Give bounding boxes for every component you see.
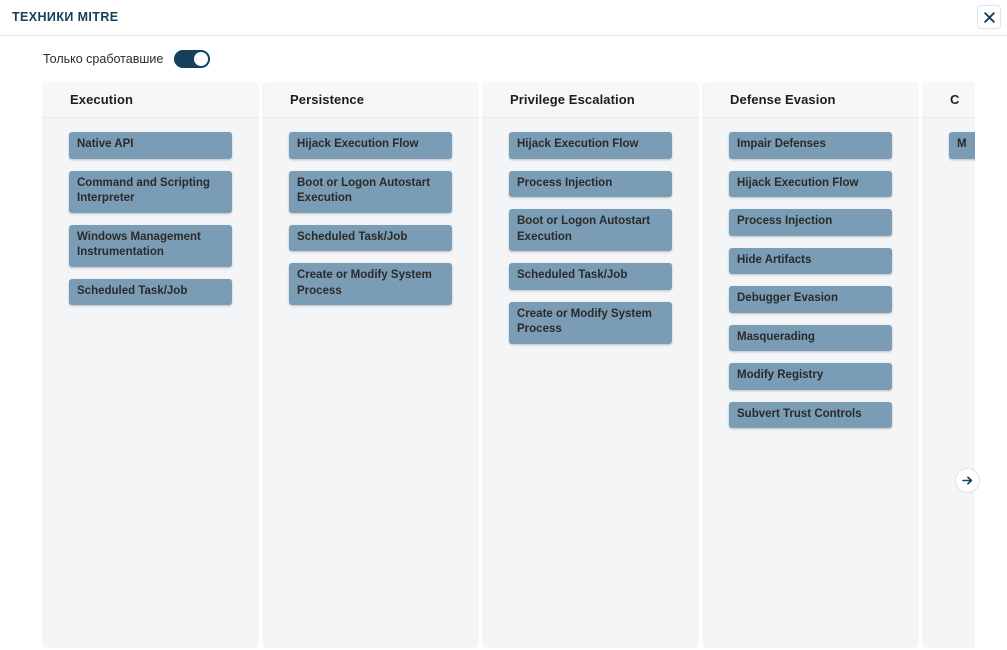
triggered-only-filter[interactable]: Только сработавшие (43, 50, 210, 68)
filter-toolbar: Только сработавшие (0, 36, 1007, 82)
technique-card[interactable]: Impair Defenses (729, 132, 892, 159)
technique-card[interactable]: Scheduled Task/Job (69, 279, 232, 306)
tactic-column-body: Hijack Execution FlowProcess InjectionBo… (482, 118, 699, 648)
technique-card[interactable]: Debugger Evasion (729, 286, 892, 313)
technique-card[interactable]: Windows Management Instrumentation (69, 225, 232, 267)
technique-card[interactable]: Subvert Trust Controls (729, 402, 892, 429)
technique-card[interactable]: Modify Registry (729, 363, 892, 390)
tactic-column-title: Defense Evasion (730, 92, 836, 107)
close-icon (984, 12, 995, 23)
page-title: ТЕХНИКИ MITRE (12, 10, 119, 24)
triggered-only-label: Только сработавшие (43, 52, 163, 66)
technique-card[interactable]: Scheduled Task/Job (509, 263, 672, 290)
arrow-right-icon (961, 474, 974, 487)
technique-card[interactable]: Hijack Execution Flow (289, 132, 452, 159)
tactic-column-body: Impair DefensesHijack Execution FlowProc… (702, 118, 919, 648)
close-button[interactable] (977, 5, 1001, 29)
technique-card[interactable]: Process Injection (509, 171, 672, 198)
technique-card[interactable]: Process Injection (729, 209, 892, 236)
tactic-column-header: Privilege Escalation (482, 82, 699, 118)
triggered-only-toggle[interactable] (174, 50, 210, 68)
tactic-column-header: Defense Evasion (702, 82, 919, 118)
scroll-next-button[interactable] (955, 468, 980, 493)
technique-card[interactable]: Masquerading (729, 325, 892, 352)
technique-card[interactable]: Create or Modify System Process (509, 302, 672, 344)
technique-card[interactable]: Native API (69, 132, 232, 159)
tactic-column-body: Native APICommand and Scripting Interpre… (42, 118, 259, 648)
tactic-column-title: Persistence (290, 92, 364, 107)
tactic-column: Privilege EscalationHijack Execution Flo… (482, 82, 699, 648)
tactic-column-body: Hijack Execution FlowBoot or Logon Autos… (262, 118, 479, 648)
technique-card[interactable]: Hijack Execution Flow (729, 171, 892, 198)
tactic-column-title: Privilege Escalation (510, 92, 635, 107)
technique-card[interactable]: Hijack Execution Flow (509, 132, 672, 159)
techniques-board: ExecutionNative APICommand and Scripting… (42, 82, 1007, 648)
tactic-column-header: Execution (42, 82, 259, 118)
dialog-header: ТЕХНИКИ MITRE (0, 0, 1007, 36)
board-clip-mask (975, 82, 1007, 650)
technique-card[interactable]: Boot or Logon Autostart Execution (289, 171, 452, 213)
technique-card[interactable]: Scheduled Task/Job (289, 225, 452, 252)
tactic-column: PersistenceHijack Execution FlowBoot or … (262, 82, 479, 648)
tactic-column: Defense EvasionImpair DefensesHijack Exe… (702, 82, 919, 648)
tactic-column-title: C (950, 92, 960, 107)
technique-card[interactable]: Command and Scripting Interpreter (69, 171, 232, 213)
technique-card[interactable]: Create or Modify System Process (289, 263, 452, 305)
technique-card[interactable]: Hide Artifacts (729, 248, 892, 275)
tactic-column-header: Persistence (262, 82, 479, 118)
tactic-column: ExecutionNative APICommand and Scripting… (42, 82, 259, 648)
technique-card[interactable]: Boot or Logon Autostart Execution (509, 209, 672, 251)
techniques-board-viewport[interactable]: ExecutionNative APICommand and Scripting… (0, 82, 1007, 650)
tactic-column-title: Execution (70, 92, 133, 107)
toggle-knob (194, 52, 208, 66)
